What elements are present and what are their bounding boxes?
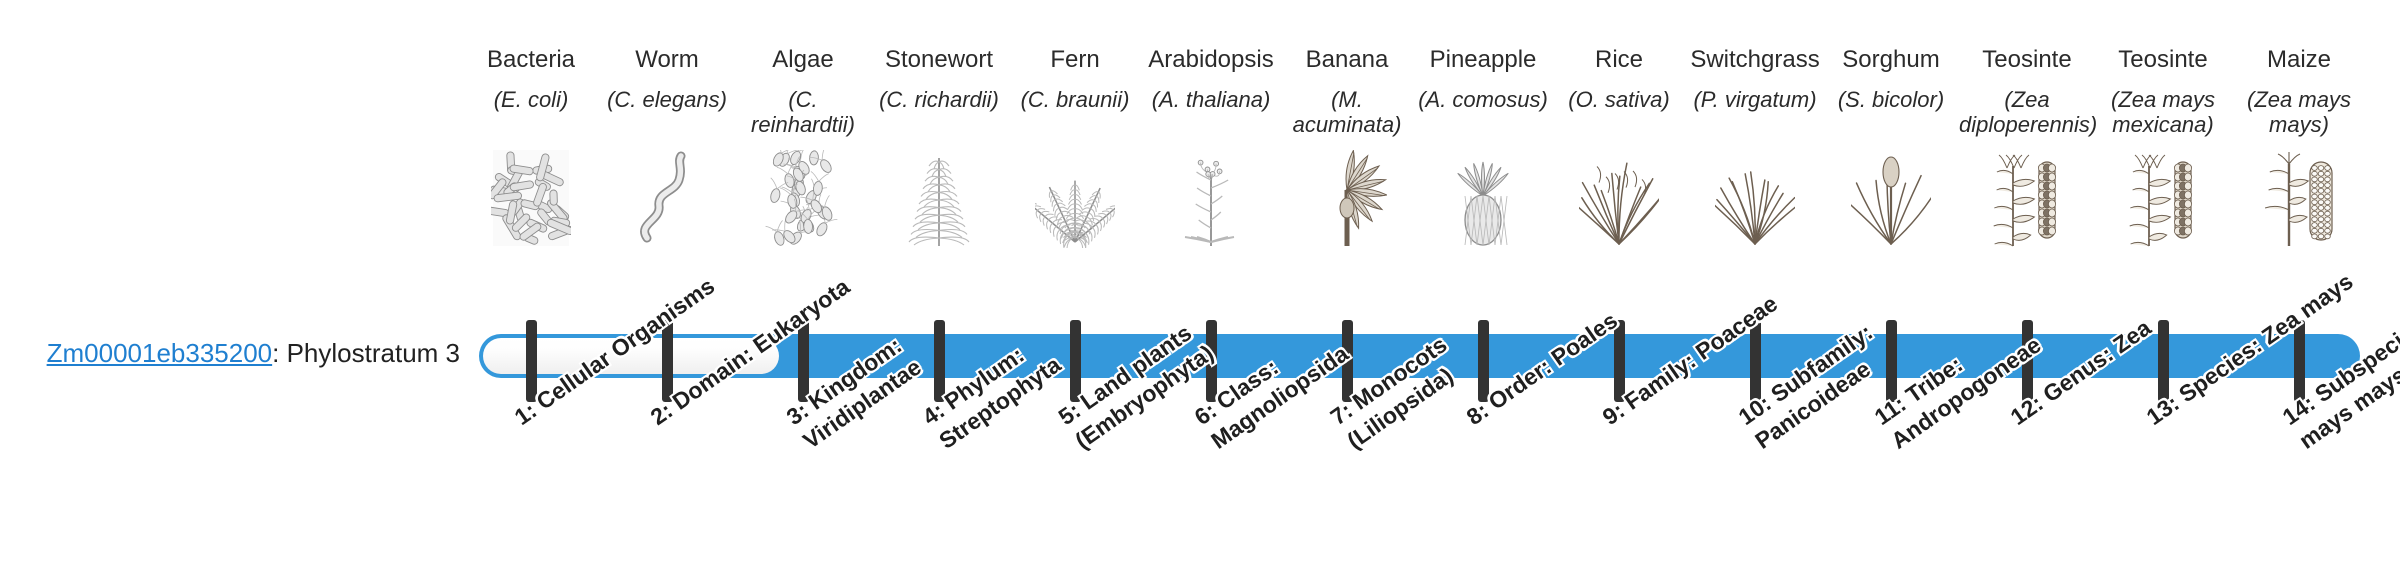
phylostratum-tick[interactable]: [1206, 320, 1217, 402]
species-common-name: Bacteria: [463, 46, 599, 76]
species-scientific-name: (M. acuminata): [1279, 88, 1415, 146]
species-common-name: Switchgrass: [1687, 46, 1823, 76]
species-common-name: Teosinte: [1959, 46, 2095, 76]
species-column: Fern(C. braunii): [1007, 46, 1143, 248]
species-common-name: Worm: [599, 46, 735, 76]
arabidopsis-icon: [1143, 148, 1279, 248]
species-scientific-name: (C. elegans): [599, 88, 735, 146]
species-column: Worm(C. elegans): [599, 46, 735, 248]
phylostratum-tick[interactable]: [1750, 320, 1761, 402]
species-common-name: Fern: [1007, 46, 1143, 76]
species-column: Maize(Zea mays mays): [2231, 46, 2367, 248]
rank-number: 1:: [510, 397, 542, 430]
species-scientific-name: (Zea diploperennis): [1959, 88, 2095, 146]
rank-number: 6:: [1190, 397, 1222, 430]
rank-number: 3:: [782, 397, 814, 430]
worm-icon: [599, 148, 735, 248]
gene-phylostratum-label: Zm00001eb335200: Phylostratum 3: [40, 339, 460, 369]
pineapple-icon: [1415, 148, 1551, 248]
fern-icon: [1007, 148, 1143, 248]
species-scientific-name: (Zea mays mexicana): [2095, 88, 2231, 146]
species-common-name: Arabidopsis: [1143, 46, 1279, 76]
species-common-name: Sorghum: [1823, 46, 1959, 76]
species-column: Bacteria(E. coli): [463, 46, 599, 248]
rank-number: 8:: [1462, 397, 1494, 430]
species-column: Switchgrass(P. virgatum): [1687, 46, 1823, 248]
bacteria-icon: [463, 148, 599, 248]
phylostratum-value: Phylostratum 3: [287, 338, 460, 368]
species-common-name: Teosinte: [2095, 46, 2231, 76]
species-column: Pineapple(A. comosus): [1415, 46, 1551, 248]
gene-id-link[interactable]: Zm00001eb335200: [47, 338, 273, 368]
species-common-name: Rice: [1551, 46, 1687, 76]
teosinte-icon: [1959, 148, 2095, 248]
phylostratum-tick[interactable]: [1614, 320, 1625, 402]
phylostratum-tick[interactable]: [526, 320, 537, 402]
rank-number: 5:: [1054, 397, 1086, 430]
species-column: Arabidopsis(A. thaliana): [1143, 46, 1279, 248]
species-common-name: Pineapple: [1415, 46, 1551, 76]
species-common-name: Banana: [1279, 46, 1415, 76]
species-scientific-name: (A. comosus): [1415, 88, 1551, 146]
phylostratum-tick[interactable]: [1478, 320, 1489, 402]
species-column: Teosinte(Zea diploperennis): [1959, 46, 2095, 248]
phylostratum-tick[interactable]: [934, 320, 945, 402]
phylostratum-tick[interactable]: [2294, 320, 2305, 402]
species-scientific-name: (P. virgatum): [1687, 88, 1823, 146]
phylostratum-tick[interactable]: [798, 320, 809, 402]
gene-label-separator: :: [272, 338, 286, 368]
phylostratum-tick[interactable]: [1342, 320, 1353, 402]
rank-number: 9:: [1598, 397, 1630, 430]
species-scientific-name: (E. coli): [463, 88, 599, 146]
rank-number: 2:: [646, 397, 678, 430]
rice-icon: [1551, 148, 1687, 248]
phylostratum-tick[interactable]: [1886, 320, 1897, 402]
stonewort-icon: [871, 148, 1007, 248]
species-common-name: Stonewort: [871, 46, 1007, 76]
species-column: Banana(M. acuminata): [1279, 46, 1415, 248]
sorghum-icon: [1823, 148, 1959, 248]
species-scientific-name: (O. sativa): [1551, 88, 1687, 146]
phylostratum-tick[interactable]: [1070, 320, 1081, 402]
switchgrass-icon: [1687, 148, 1823, 248]
phylostratum-tick[interactable]: [2158, 320, 2169, 402]
species-scientific-name: (C. reinhardtii): [735, 88, 871, 146]
species-scientific-name: (C. richardii): [871, 88, 1007, 146]
species-scientific-name: (A. thaliana): [1143, 88, 1279, 146]
species-column: Sorghum(S. bicolor): [1823, 46, 1959, 248]
species-scientific-name: (C. braunii): [1007, 88, 1143, 146]
maize-icon: [2231, 148, 2367, 248]
species-scientific-name: (S. bicolor): [1823, 88, 1959, 146]
species-common-name: Maize: [2231, 46, 2367, 76]
banana-icon: [1279, 148, 1415, 248]
phylostratum-tick[interactable]: [662, 320, 673, 402]
species-scientific-name: (Zea mays mays): [2231, 88, 2367, 146]
algae-icon: [735, 148, 871, 248]
species-column: Stonewort(C. richardii): [871, 46, 1007, 248]
species-column: Teosinte(Zea mays mexicana): [2095, 46, 2231, 248]
rank-number: 4:: [918, 397, 950, 430]
rank-number: 7:: [1326, 397, 1358, 430]
species-common-name: Algae: [735, 46, 871, 76]
species-column: Algae(C. reinhardtii): [735, 46, 871, 248]
phylostratum-tick[interactable]: [2022, 320, 2033, 402]
teosinte-icon: [2095, 148, 2231, 248]
phylostratigraphy-figure: Zm00001eb335200: Phylostratum 3 Bacteria…: [0, 0, 2400, 580]
species-column: Rice(O. sativa): [1551, 46, 1687, 248]
